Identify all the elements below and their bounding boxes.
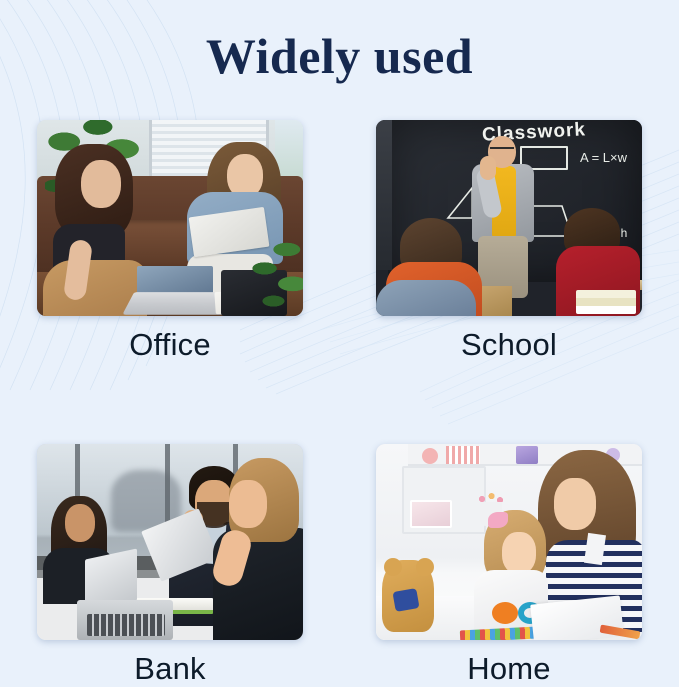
caption-bank: Bank — [37, 651, 303, 687]
school-photo: Classwork b×h A = L×w A = (B+ — [376, 120, 642, 316]
office-image-card[interactable] — [37, 120, 303, 316]
use-case-grid: Office Classwork b×h — [37, 120, 642, 687]
page-root: Widely used — [0, 0, 679, 679]
school-image-card[interactable]: Classwork b×h A = L×w A = (B+ — [376, 120, 642, 316]
use-case-row-top: Office Classwork b×h — [37, 120, 642, 363]
caption-school: School — [376, 327, 642, 363]
home-image-card[interactable] — [376, 444, 642, 640]
use-case-school[interactable]: Classwork b×h A = L×w A = (B+ — [376, 120, 642, 363]
use-case-office[interactable]: Office — [37, 120, 303, 363]
bank-image-card[interactable] — [37, 444, 303, 640]
caption-office: Office — [37, 327, 303, 363]
home-photo — [376, 444, 642, 640]
use-case-bank[interactable]: Bank — [37, 444, 303, 687]
office-plant-right-icon — [235, 234, 303, 316]
office-photo — [37, 120, 303, 316]
page-title: Widely used — [0, 27, 679, 85]
blackboard-formula-area-rect: A = L×w — [580, 150, 627, 165]
caption-home: Home — [376, 651, 642, 687]
use-case-row-bottom: Bank — [37, 444, 642, 687]
bank-photo — [37, 444, 303, 640]
use-case-home[interactable]: Home — [376, 444, 642, 687]
hair-bow-icon — [488, 512, 508, 528]
